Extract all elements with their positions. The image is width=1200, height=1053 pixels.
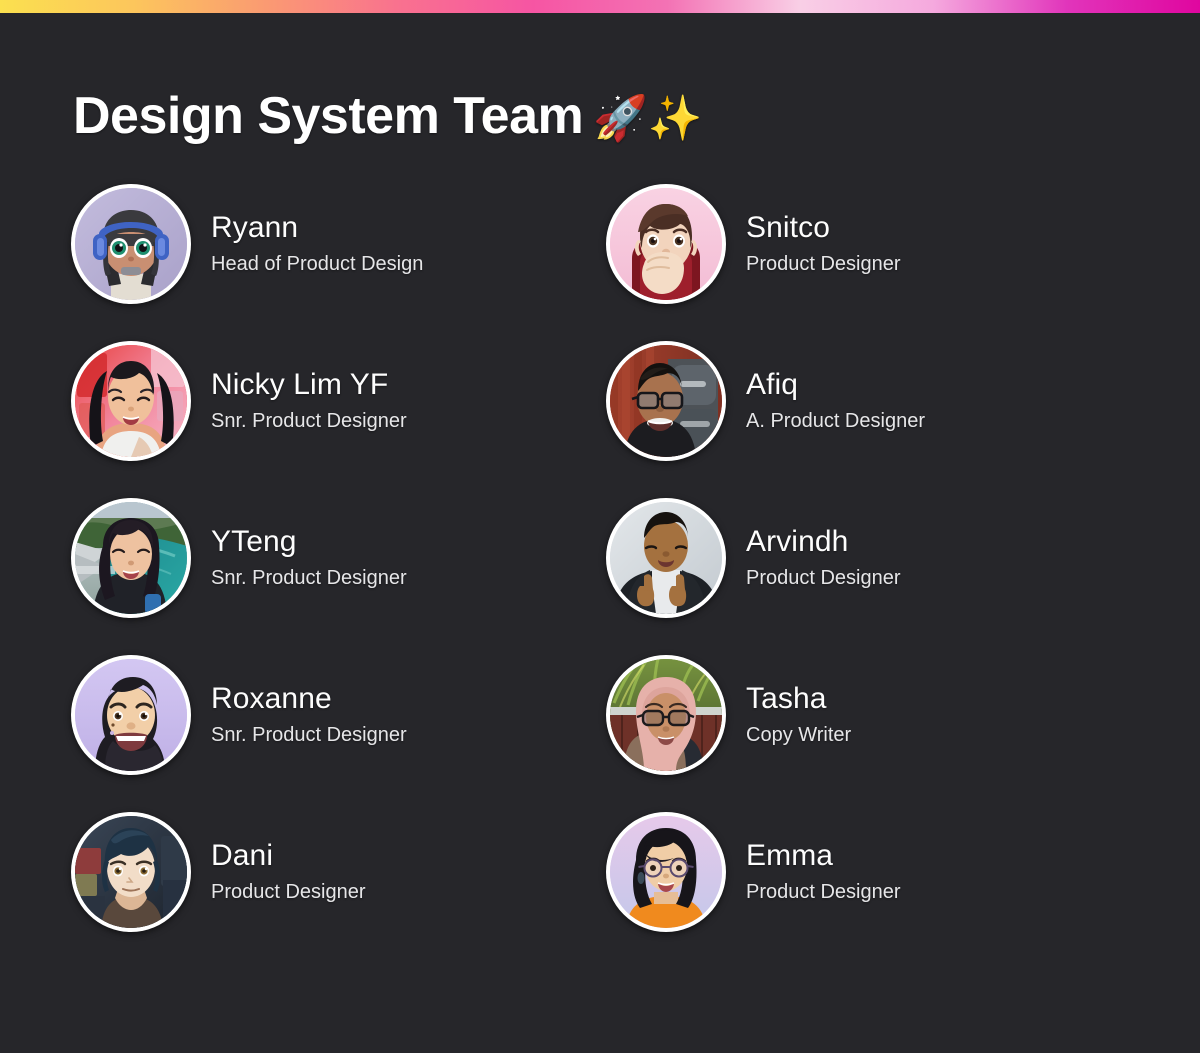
member-name: Ryann <box>211 210 423 247</box>
member-text: RyannHead of Product Design <box>211 210 423 279</box>
rocket-sparkles-emoji: 🚀✨ <box>593 94 702 143</box>
member-role: A. Product Designer <box>746 408 925 435</box>
avatar-image <box>610 188 722 300</box>
team-member-card[interactable]: DaniProduct Designer <box>71 812 606 932</box>
team-member-card[interactable]: EmmaProduct Designer <box>606 812 1141 932</box>
member-name: Tasha <box>746 681 851 718</box>
ryann-avatar[interactable] <box>71 184 191 304</box>
member-name: Roxanne <box>211 681 407 718</box>
top-gradient-bar <box>0 0 1200 13</box>
member-name: Dani <box>211 838 366 875</box>
avatar-image <box>610 659 722 771</box>
member-name: YTeng <box>211 524 407 561</box>
member-role: Product Designer <box>746 879 901 906</box>
member-role: Head of Product Design <box>211 251 423 278</box>
member-text: ArvindhProduct Designer <box>746 524 901 593</box>
avatar-image <box>75 188 187 300</box>
avatar-image <box>75 345 187 457</box>
member-text: DaniProduct Designer <box>211 838 366 907</box>
member-text: SnitcoProduct Designer <box>746 210 901 279</box>
member-text: Nicky Lim YFSnr. Product Designer <box>211 367 407 436</box>
member-name: Nicky Lim YF <box>211 367 407 404</box>
team-member-card[interactable]: AfiqA. Product Designer <box>606 341 1141 461</box>
team-member-card[interactable]: RoxanneSnr. Product Designer <box>71 655 606 775</box>
member-name: Snitco <box>746 210 901 247</box>
tasha-avatar[interactable] <box>606 655 726 775</box>
snitco-avatar[interactable] <box>606 184 726 304</box>
arvindh-avatar[interactable] <box>606 498 726 618</box>
member-role: Snr. Product Designer <box>211 565 407 592</box>
member-name: Arvindh <box>746 524 901 561</box>
member-text: YTengSnr. Product Designer <box>211 524 407 593</box>
member-text: AfiqA. Product Designer <box>746 367 925 436</box>
avatar-image <box>75 502 187 614</box>
team-member-card[interactable]: SnitcoProduct Designer <box>606 184 1141 304</box>
team-member-card[interactable]: TashaCopy Writer <box>606 655 1141 775</box>
member-role: Product Designer <box>211 879 366 906</box>
team-member-card[interactable]: ArvindhProduct Designer <box>606 498 1141 618</box>
member-role: Snr. Product Designer <box>211 408 407 435</box>
avatar-image <box>610 502 722 614</box>
page-title: Design System Team🚀✨ <box>73 88 702 145</box>
avatar-image <box>75 659 187 771</box>
member-text: EmmaProduct Designer <box>746 838 901 907</box>
team-member-card[interactable]: Nicky Lim YFSnr. Product Designer <box>71 341 606 461</box>
emma-avatar[interactable] <box>606 812 726 932</box>
page-title-text: Design System Team <box>73 87 583 145</box>
member-text: TashaCopy Writer <box>746 681 851 750</box>
member-role: Product Designer <box>746 251 901 278</box>
roxanne-avatar[interactable] <box>71 655 191 775</box>
avatar-image <box>75 816 187 928</box>
member-name: Afiq <box>746 367 925 404</box>
member-role: Snr. Product Designer <box>211 722 407 749</box>
team-member-grid: RyannHead of Product DesignSnitcoProduct… <box>71 184 1141 969</box>
nicky-avatar[interactable] <box>71 341 191 461</box>
member-text: RoxanneSnr. Product Designer <box>211 681 407 750</box>
avatar-image <box>610 816 722 928</box>
member-name: Emma <box>746 838 901 875</box>
avatar-image <box>610 345 722 457</box>
afiq-avatar[interactable] <box>606 341 726 461</box>
team-member-card[interactable]: YTengSnr. Product Designer <box>71 498 606 618</box>
yteng-avatar[interactable] <box>71 498 191 618</box>
member-role: Product Designer <box>746 565 901 592</box>
team-member-card[interactable]: RyannHead of Product Design <box>71 184 606 304</box>
dani-avatar[interactable] <box>71 812 191 932</box>
member-role: Copy Writer <box>746 722 851 749</box>
